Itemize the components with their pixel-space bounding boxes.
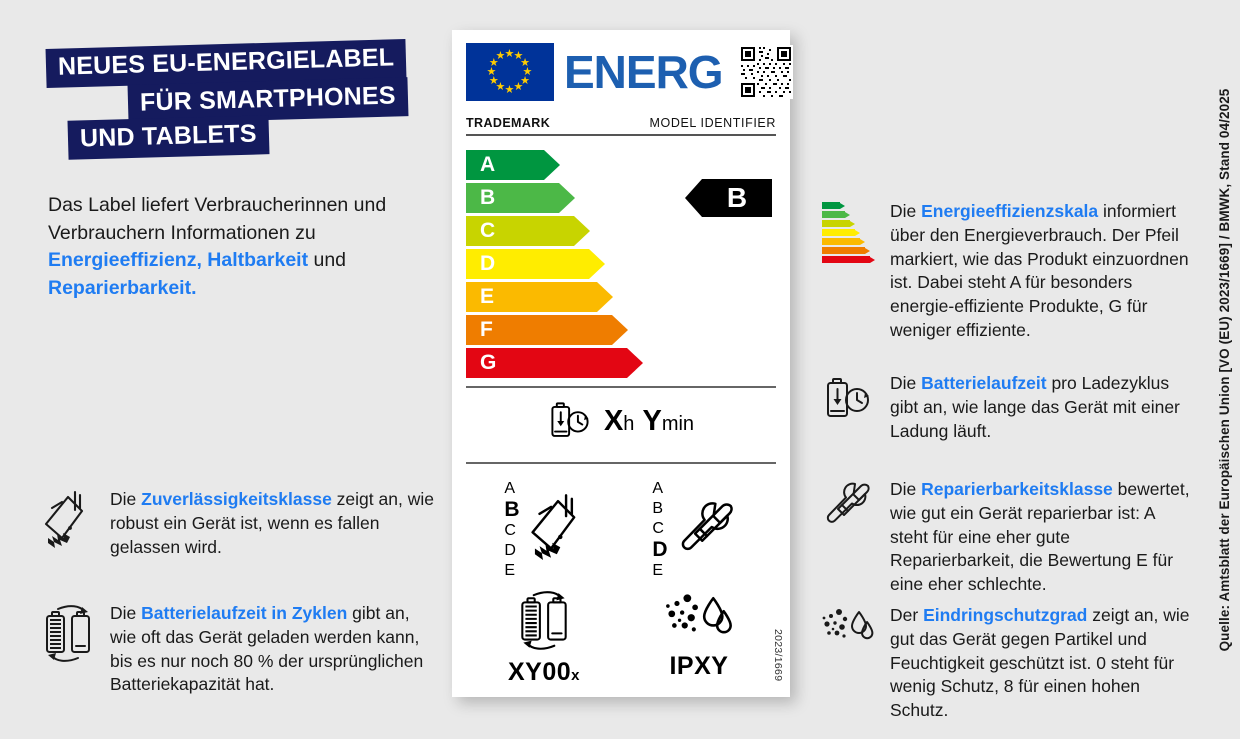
cycles-suffix: x <box>571 667 580 684</box>
eu-star-icon: ★ <box>514 82 524 93</box>
dust-water-icon <box>664 590 734 648</box>
eu-energy-label-card: ★★★★★★★★★★★★ ENERG <box>452 30 790 697</box>
note-term: Batterielaufzeit <box>921 373 1046 393</box>
grade-letter-A: A <box>480 153 495 177</box>
runtime-value: Xh Ymin <box>604 405 694 438</box>
note-energy-scale: Die Energieeffizienzskala informiert übe… <box>820 200 1190 343</box>
dust-water-icon <box>820 604 876 723</box>
intro-highlight-2: Reparierbarkeit. <box>48 277 197 299</box>
reliability-option-D: D <box>504 541 519 561</box>
energy-scale-icon <box>820 200 876 343</box>
note-ingress: Der Eindringschutzgrad zeigt an, wie gut… <box>820 604 1190 723</box>
runtime-hours-unit: h <box>623 413 634 435</box>
repairability-class-block: ABCDE <box>652 478 737 582</box>
reliability-class-block: ABCDE <box>504 478 587 582</box>
grade-row-F: F <box>466 315 776 345</box>
battery-cycle-icon <box>513 590 575 654</box>
reliability-option-E: E <box>504 561 519 581</box>
runtime-minutes-unit: min <box>662 413 694 435</box>
note-repair: Die Reparierbarkeitsklasse bewertet, wie… <box>820 478 1190 597</box>
regulation-number: 2023/1669 <box>772 629 784 681</box>
phone-drop-icon <box>40 488 96 559</box>
repairability-option-A: A <box>652 479 667 499</box>
trademark-label: TRADEMARK <box>466 116 550 130</box>
reliability-option-A: A <box>504 479 519 499</box>
grade-letter-G: G <box>480 351 496 375</box>
energ-wordmark: ENERG <box>564 49 723 95</box>
battery-clock-icon <box>820 372 876 443</box>
energy-efficiency-scale: ABCDEFG B <box>466 150 776 378</box>
note-term: Energieeffizienzskala <box>921 201 1098 221</box>
grade-row-E: E <box>466 282 776 312</box>
grade-row-C: C <box>466 216 776 246</box>
reliability-class-letters: ABCDE <box>504 479 519 582</box>
reliability-option-C: C <box>504 521 519 541</box>
selected-grade-letter: B <box>702 179 772 217</box>
note-term: Batterielaufzeit in Zyklen <box>141 603 347 623</box>
grade-letter-D: D <box>480 252 495 276</box>
repairability-option-E: E <box>652 561 667 581</box>
intro-text-2: und <box>308 249 346 271</box>
battery-cycles-metric: XY00x <box>508 590 580 687</box>
ingress-value: IPXY <box>669 652 728 681</box>
battery-cycle-icon <box>40 602 96 697</box>
intro-highlight-1: Energieeffizienz, Haltbarkeit <box>48 249 308 271</box>
model-identifier-label: MODEL IDENTIFIER <box>649 116 776 130</box>
class-ratings-area: ABCDE ABCDE <box>466 464 776 582</box>
battery-runtime-row: Xh Ymin <box>466 388 776 454</box>
qr-code-icon <box>739 45 793 99</box>
note-pre: Der <box>890 605 923 625</box>
runtime-minutes: Y <box>642 405 661 437</box>
grade-letter-C: C <box>480 219 495 243</box>
note-post: informiert über den Energieverbrauch. De… <box>890 201 1189 340</box>
tools-icon <box>676 499 738 561</box>
source-credit: Quelle: Amtsblatt der Europäischen Union… <box>1217 88 1232 651</box>
repairability-option-C: C <box>652 519 667 539</box>
grade-letter-B: B <box>480 186 495 210</box>
phone-drop-icon <box>528 493 588 567</box>
note-pre: Die <box>890 201 921 221</box>
note-runtime: Die Batterielaufzeit pro Ladezyklus gibt… <box>820 372 1190 443</box>
note-pre: Die <box>890 479 921 499</box>
runtime-hours: X <box>604 405 623 437</box>
ingress-protection-metric: IPXY <box>664 590 734 681</box>
repairability-option-D: D <box>652 539 667 561</box>
bottom-metrics: XY00x IPXY <box>466 582 776 687</box>
note-term: Eindringschutzgrad <box>923 605 1087 625</box>
selected-grade-pointer: B <box>685 179 772 217</box>
note-term: Reparierbarkeitsklasse <box>921 479 1113 499</box>
trademark-row: TRADEMARK MODEL IDENTIFIER <box>466 116 776 136</box>
intro-paragraph: Das Label liefert Verbraucherinnen und V… <box>48 192 428 303</box>
headline-line-3: UND TABLETS <box>67 115 269 160</box>
headline-banner: NEUES EU-ENERGIELABEL FÜR SMARTPHONES UN… <box>46 44 416 157</box>
tools-icon <box>820 478 876 597</box>
cycles-value: XY00x <box>508 658 580 687</box>
grade-row-G: G <box>466 348 776 378</box>
cycles-number: XY00 <box>508 658 571 686</box>
intro-text-1: Das Label liefert Verbraucherinnen und V… <box>48 194 386 244</box>
label-header: ★★★★★★★★★★★★ ENERG <box>466 42 776 102</box>
note-term: Zuverlässigkeitsklasse <box>141 489 332 509</box>
eu-star-icon: ★ <box>496 51 506 62</box>
reliability-option-B: B <box>504 499 519 521</box>
grade-letter-F: F <box>480 318 493 342</box>
grade-letter-E: E <box>480 285 494 309</box>
note-pre: Die <box>110 489 141 509</box>
note-pre: Die <box>110 603 141 623</box>
repairability-class-letters: ABCDE <box>652 479 667 582</box>
repairability-option-B: B <box>652 499 667 519</box>
eu-flag-icon: ★★★★★★★★★★★★ <box>466 43 554 101</box>
note-reliability: Die Zuverlässigkeitsklasse zeigt an, wie… <box>40 488 440 559</box>
battery-clock-icon <box>548 399 592 443</box>
note-pre: Die <box>890 373 921 393</box>
eu-star-icon: ★ <box>505 85 515 96</box>
grade-row-A: A <box>466 150 776 180</box>
grade-row-D: D <box>466 249 776 279</box>
note-cycles: Die Batterielaufzeit in Zyklen gibt an, … <box>40 602 440 697</box>
